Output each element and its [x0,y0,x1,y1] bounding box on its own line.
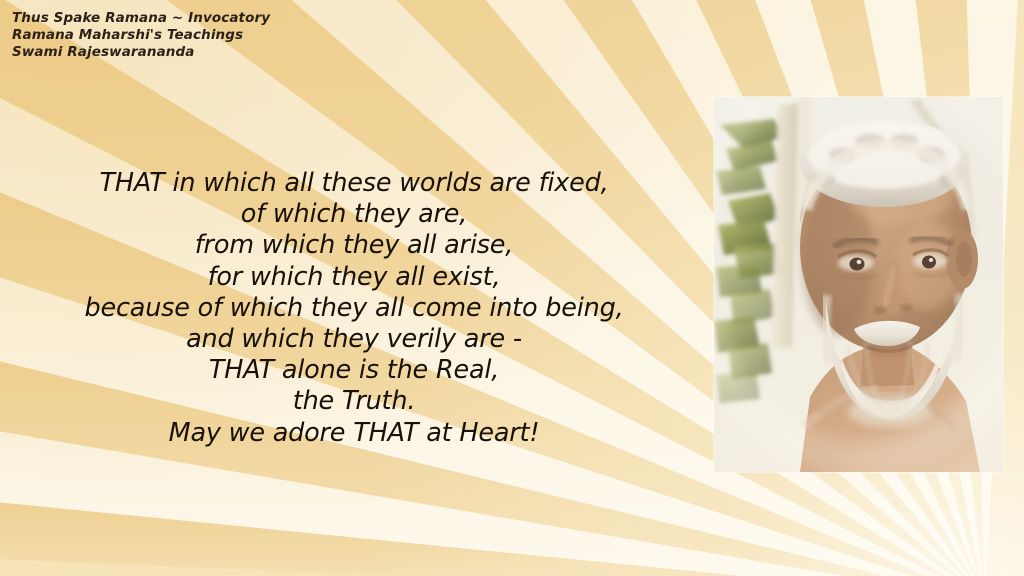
slide-canvas: Thus Spake Ramana ~ Invocatory Ramana Ma… [0,0,1024,576]
quote-line-5: because of which they all come into bein… [18,293,690,324]
portrait-photo-image [714,97,1003,472]
quote-line-7: THAT alone is the Real, [18,355,690,386]
quote-line-2: of which they are, [18,199,690,230]
quote-line-9: May we adore THAT at Heart! [18,418,690,449]
quote-line-1: THAT in which all these worlds are fixed… [18,168,690,199]
quote-line-6: and which they verily are - [18,324,690,355]
quote-line-4: for which they all exist, [18,262,690,293]
slide-credits: Thus Spake Ramana ~ Invocatory Ramana Ma… [12,10,270,61]
credit-line-source: Ramana Maharshi's Teachings [12,27,270,44]
credit-line-title: Thus Spake Ramana ~ Invocatory [12,10,270,27]
invocatory-quote: THAT in which all these worlds are fixed… [18,168,690,449]
portrait-photo [714,97,1003,472]
credit-line-author: Swami Rajeswarananda [12,44,270,61]
quote-line-3: from which they all arise, [18,230,690,261]
quote-line-8: the Truth. [18,386,690,417]
